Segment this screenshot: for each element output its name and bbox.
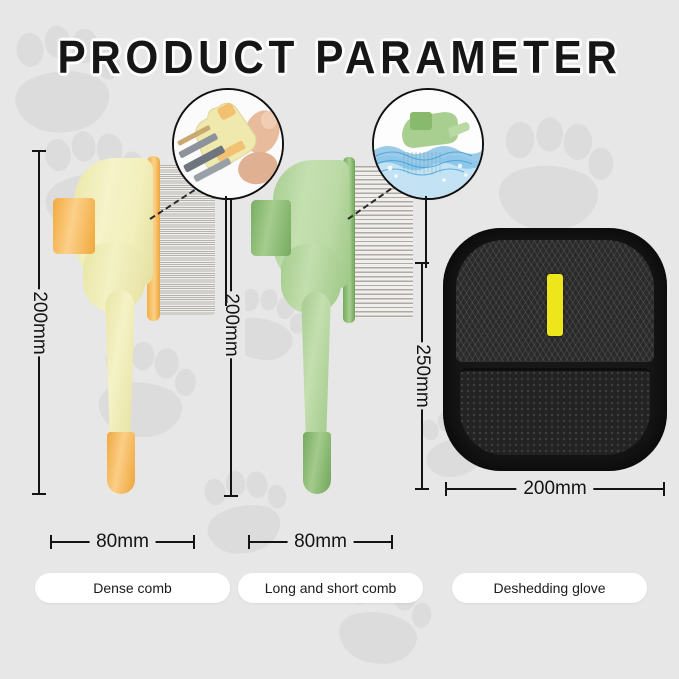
dim-cap-bottom bbox=[415, 488, 429, 490]
dim-label: 80mm bbox=[89, 531, 156, 553]
dim-label: 200mm bbox=[217, 291, 245, 358]
glove-mesh-pocket bbox=[460, 368, 650, 455]
callout-1-inset-circle bbox=[172, 88, 284, 200]
dim-label: 80mm bbox=[287, 531, 354, 553]
long-short-comb-tip-cap bbox=[303, 432, 331, 494]
dim-glove-height: 250mm bbox=[415, 262, 429, 490]
long-short-comb-handle bbox=[299, 292, 333, 440]
dim-cap-left bbox=[50, 535, 52, 549]
label-pill-long-short-comb[interactable]: Long and short comb bbox=[238, 573, 423, 603]
dim-label: 200mm bbox=[516, 478, 593, 500]
dim-cap-right bbox=[391, 535, 393, 549]
dim-cap-bottom bbox=[224, 495, 238, 497]
label-pill-text: Long and short comb bbox=[265, 580, 397, 596]
dim-cap-bottom bbox=[32, 493, 46, 495]
dim-label: 200mm bbox=[25, 289, 53, 356]
dim-cap-top bbox=[32, 150, 46, 152]
product-dense-comb bbox=[55, 150, 235, 495]
dim-long-short-comb-width: 80mm bbox=[248, 535, 393, 549]
dim-cap-left bbox=[248, 535, 250, 549]
page-title: PRODUCT PARAMETER bbox=[27, 30, 652, 84]
product-long-short-comb bbox=[253, 152, 433, 497]
dense-comb-handle bbox=[103, 290, 137, 440]
dim-label: 250mm bbox=[408, 342, 436, 409]
comb-washing-in-water-illustration bbox=[374, 90, 482, 198]
long-short-comb-release-button[interactable] bbox=[251, 200, 291, 256]
product-deshedding-glove bbox=[443, 228, 667, 471]
hand-holding-comb-illustration bbox=[174, 90, 282, 198]
label-pill-text: Dense comb bbox=[93, 580, 172, 596]
callout-2-stem bbox=[425, 196, 427, 268]
dim-dense-comb-height: 200mm bbox=[32, 150, 46, 495]
dim-dense-comb-width: 80mm bbox=[50, 535, 195, 549]
dense-comb-tip-cap bbox=[107, 432, 135, 494]
dim-cap-right bbox=[193, 535, 195, 549]
dense-comb-release-button[interactable] bbox=[53, 198, 95, 254]
label-pill-dense-comb[interactable]: Dense comb bbox=[35, 573, 230, 603]
dim-glove-width: 200mm bbox=[445, 482, 665, 496]
label-pill-deshedding-glove[interactable]: Deshedding glove bbox=[452, 573, 647, 603]
callout-1-stem bbox=[225, 196, 227, 306]
glove-yellow-tab bbox=[547, 274, 563, 336]
dim-cap-right bbox=[663, 482, 665, 496]
infographic-canvas: PRODUCT PARAMETER 200mm 80mm bbox=[0, 0, 679, 679]
callout-2-inset-circle bbox=[372, 88, 484, 200]
dim-cap-left bbox=[445, 482, 447, 496]
label-pill-text: Deshedding glove bbox=[493, 580, 605, 596]
